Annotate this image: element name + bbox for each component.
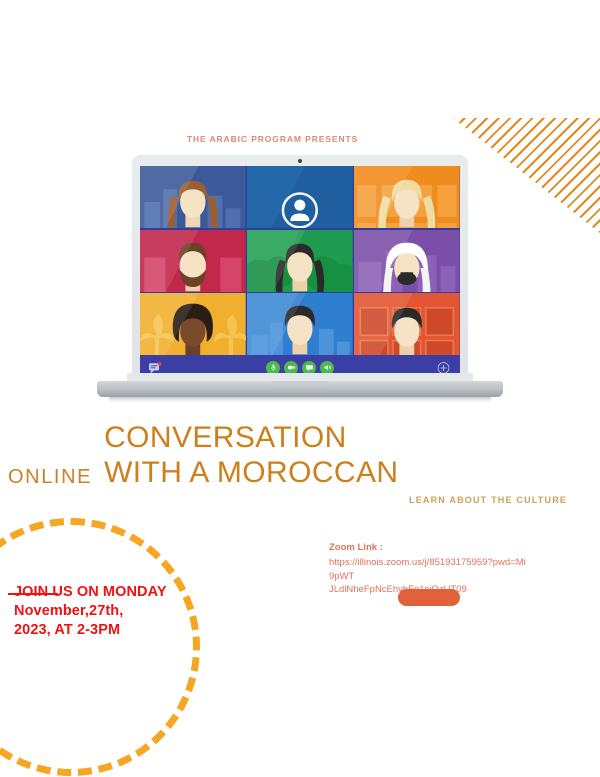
- cta-pill-button[interactable]: [398, 589, 460, 606]
- kicker-text: THE ARABIC PROGRAM PRESENTS: [0, 134, 545, 144]
- video-tile-participant-1[interactable]: [140, 166, 246, 228]
- video-tile-participant-2-avatar[interactable]: [247, 166, 353, 228]
- webcam-icon: [298, 159, 302, 163]
- video-tile-participant-4[interactable]: [140, 230, 246, 292]
- page-title: CONVERSATION WITH A MOROCCAN: [104, 420, 398, 491]
- tile-8-graphic: [247, 293, 353, 355]
- laptop-illustration: [97, 155, 503, 408]
- strikethrough-decoration: [8, 593, 58, 595]
- event-line-2: November,27th,: [14, 602, 167, 621]
- tile-3-graphic: [354, 166, 460, 228]
- video-tile-participant-5[interactable]: [247, 230, 353, 292]
- tile-7-graphic: [140, 293, 246, 355]
- laptop-base: [97, 381, 503, 397]
- headline-block: ONLINE CONVERSATION WITH A MOROCCAN: [8, 420, 568, 491]
- laptop-lid: [132, 155, 468, 386]
- laptop-base-shadow: [109, 397, 491, 402]
- tile-2-graphic: [247, 166, 353, 228]
- video-tile-participant-9[interactable]: [354, 293, 460, 355]
- video-tile-participant-6[interactable]: [354, 230, 460, 292]
- video-tile-participant-3[interactable]: [354, 166, 460, 228]
- event-line-1: JOIN US ON MONDAY: [14, 583, 167, 602]
- tile-5-graphic: [247, 230, 353, 292]
- tile-6-graphic: [354, 230, 460, 292]
- zoom-link-label: Zoom Link :: [329, 541, 529, 555]
- tile-4-graphic: [140, 230, 246, 292]
- tile-9-graphic: [354, 293, 460, 355]
- video-tile-participant-8[interactable]: [247, 293, 353, 355]
- zoom-link-url-line-1[interactable]: https://illinois.zoom.us/j/85193175959?p…: [329, 556, 529, 584]
- headline-prefix: ONLINE: [8, 467, 92, 491]
- tile-1-graphic: [140, 166, 246, 228]
- dashed-circle-decoration: [0, 518, 200, 776]
- subline-text: LEARN ABOUT THE CULTURE: [409, 495, 567, 505]
- video-tile-participant-7[interactable]: [140, 293, 246, 355]
- event-date-block: JOIN US ON MONDAY November,27th, 2023, A…: [14, 583, 167, 640]
- video-call-grid: [140, 166, 460, 355]
- event-line-3: 2023, AT 2-3PM: [14, 621, 167, 640]
- laptop-screen: [140, 166, 460, 380]
